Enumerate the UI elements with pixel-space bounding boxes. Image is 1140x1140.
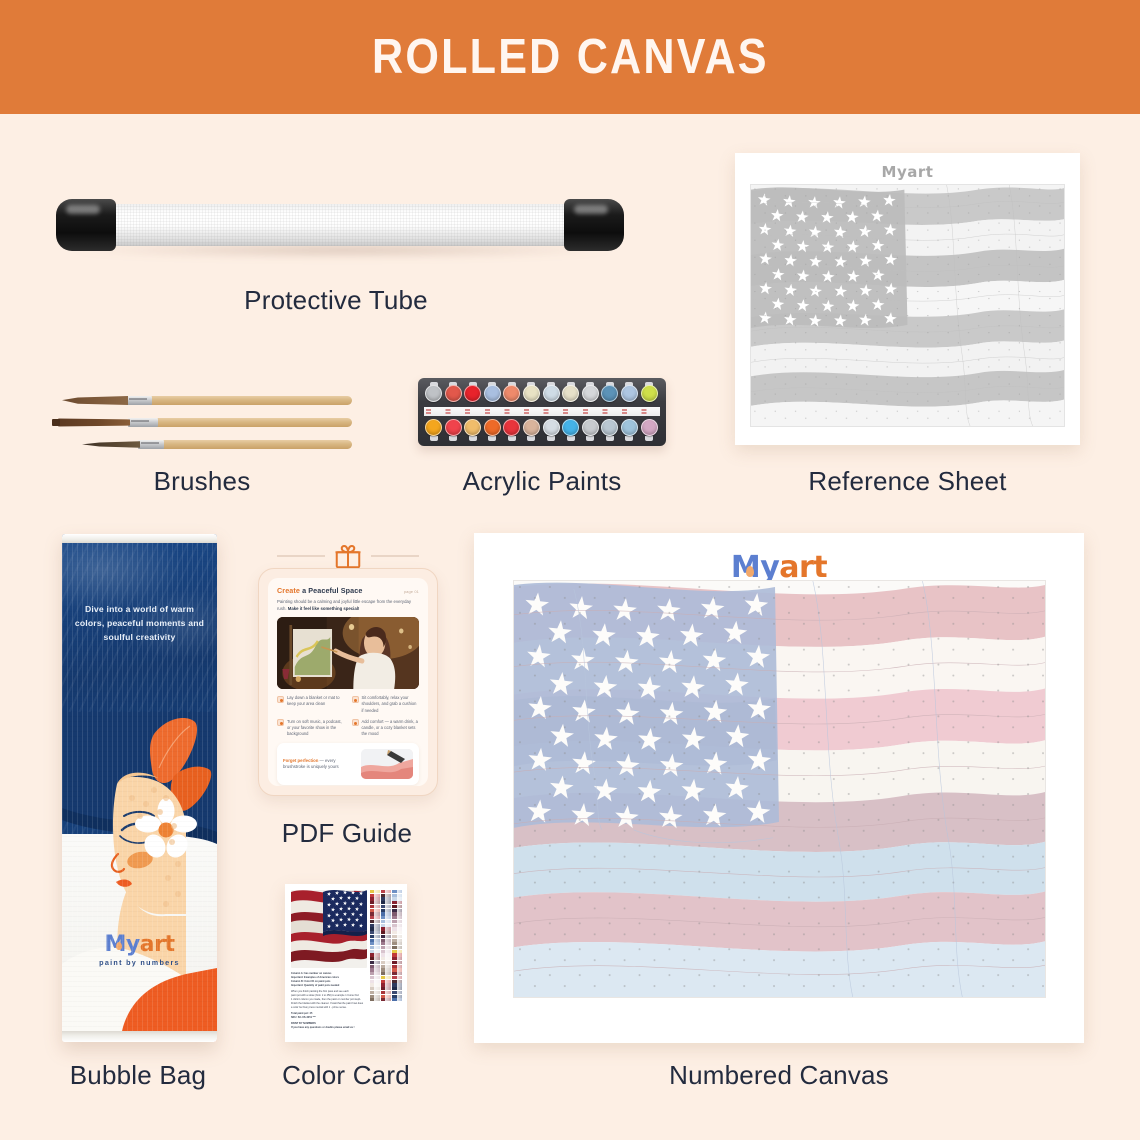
paint-pot bbox=[483, 416, 503, 441]
color-swatch bbox=[370, 965, 380, 968]
bag-tagline: Dive into a world of warm colors, peacef… bbox=[72, 602, 207, 645]
color-swatch bbox=[392, 901, 402, 904]
color-swatch bbox=[381, 931, 391, 934]
color-swatch bbox=[392, 957, 402, 960]
color-swatch bbox=[370, 939, 380, 942]
color-swatch bbox=[392, 931, 402, 934]
swatch-column bbox=[392, 890, 402, 1037]
color-swatch bbox=[392, 894, 402, 897]
logo-part-art: art bbox=[140, 932, 175, 957]
paint-pot bbox=[561, 416, 581, 441]
color-swatch bbox=[392, 946, 402, 949]
pdf-page-marker: page 01 bbox=[404, 589, 419, 594]
color-swatch bbox=[381, 968, 391, 971]
color-swatch bbox=[381, 920, 391, 923]
color-card-instructions: Column A: has number on canvasImportant:… bbox=[291, 972, 369, 1030]
brushes-image bbox=[52, 390, 352, 452]
color-swatch bbox=[370, 961, 380, 964]
color-swatch bbox=[392, 972, 402, 975]
color-swatch bbox=[370, 987, 380, 990]
numbered-canvas-image: Myart bbox=[474, 533, 1084, 1043]
color-swatch bbox=[381, 946, 391, 949]
pdf-tip-text: Add comfort — a warm drink, a candle, or… bbox=[362, 719, 420, 737]
flat-brush bbox=[52, 418, 352, 427]
palette-label-strip bbox=[424, 407, 660, 416]
tube-cap-left bbox=[56, 199, 116, 251]
pdf-title-accent: Create bbox=[277, 586, 300, 595]
bag-seam-top bbox=[62, 534, 217, 543]
color-swatch bbox=[392, 995, 402, 998]
gift-icon bbox=[333, 541, 363, 571]
callout-photo-painting-hand bbox=[361, 749, 413, 779]
music-icon bbox=[277, 719, 284, 726]
color-swatch bbox=[381, 976, 391, 979]
reference-sheet-logo: Myart bbox=[735, 163, 1080, 181]
label-reference-sheet: Reference Sheet bbox=[735, 466, 1080, 497]
label-brushes: Brushes bbox=[52, 466, 352, 497]
color-swatch bbox=[370, 916, 380, 919]
color-swatch bbox=[392, 983, 402, 986]
bubble-bag-image: Dive into a world of warm colors, peacef… bbox=[62, 534, 217, 1042]
candle-icon bbox=[352, 719, 359, 726]
label-color-card: Color Card bbox=[246, 1060, 446, 1091]
color-swatch bbox=[370, 991, 380, 994]
color-swatch bbox=[381, 957, 391, 960]
canvas-myart-logo: Myart bbox=[474, 553, 1084, 583]
color-swatch bbox=[392, 890, 402, 893]
paint-pot bbox=[620, 416, 640, 441]
color-swatch bbox=[381, 935, 391, 938]
label-protective-tube: Protective Tube bbox=[136, 285, 536, 316]
color-swatch bbox=[381, 961, 391, 964]
color-swatch bbox=[381, 980, 391, 983]
pdf-tip: Add comfort — a warm drink, a candle, or… bbox=[352, 719, 420, 737]
color-swatch bbox=[381, 905, 391, 908]
header-banner: ROLLED CANVAS bbox=[0, 0, 1140, 114]
pdf-title-rest: a Peaceful Space bbox=[300, 586, 362, 595]
color-swatch bbox=[370, 968, 380, 971]
color-swatch bbox=[392, 920, 402, 923]
paint-pot bbox=[424, 382, 444, 407]
color-swatch bbox=[392, 998, 402, 1001]
tube-body bbox=[100, 204, 592, 246]
color-swatch bbox=[392, 912, 402, 915]
pdf-intro-2: Make it feel like something special! bbox=[288, 606, 360, 611]
color-swatch bbox=[381, 942, 391, 945]
label-numbered-canvas: Numbered Canvas bbox=[474, 1060, 1084, 1091]
color-swatch bbox=[370, 957, 380, 960]
color-swatch bbox=[370, 890, 380, 893]
paint-pot bbox=[581, 382, 601, 407]
color-swatch bbox=[370, 901, 380, 904]
page-title: ROLLED CANVAS bbox=[372, 29, 769, 85]
acrylic-paints-image bbox=[418, 378, 666, 446]
pdf-photo-woman-painting bbox=[277, 617, 419, 689]
paint-pot bbox=[620, 382, 640, 407]
color-swatch bbox=[392, 905, 402, 908]
color-swatch bbox=[381, 972, 391, 975]
label-pdf-guide: PDF Guide bbox=[247, 818, 447, 849]
color-swatch bbox=[370, 897, 380, 900]
color-swatch bbox=[392, 976, 402, 979]
color-swatch bbox=[392, 924, 402, 927]
color-swatch bbox=[370, 953, 380, 956]
pdf-tips-grid: Lay down a blanket or mat to keep your a… bbox=[277, 695, 419, 737]
bag-seam-bottom bbox=[62, 1031, 217, 1042]
divider-right bbox=[371, 555, 419, 557]
color-card-swatch-columns bbox=[370, 890, 402, 1037]
color-swatch bbox=[392, 965, 402, 968]
paint-row-top bbox=[424, 382, 660, 407]
color-swatch bbox=[370, 980, 380, 983]
color-swatch bbox=[381, 950, 391, 953]
color-swatch bbox=[381, 916, 391, 919]
paint-pot bbox=[483, 382, 503, 407]
logo-part-my: My bbox=[105, 932, 140, 957]
pdf-heading: Create a Peaceful Space page 01 bbox=[277, 586, 419, 595]
swatch-column bbox=[381, 890, 391, 1037]
color-swatch bbox=[392, 991, 402, 994]
brush-tip bbox=[82, 440, 140, 449]
color-swatch bbox=[370, 894, 380, 897]
color-swatch bbox=[381, 890, 391, 893]
color-swatch bbox=[381, 927, 391, 930]
color-swatch bbox=[381, 998, 391, 1001]
color-swatch bbox=[392, 953, 402, 956]
pdf-tip-text: Lay down a blanket or mat to keep your a… bbox=[287, 695, 345, 713]
numbered-flag-art bbox=[513, 580, 1046, 998]
color-card-line: If you have any questions or doubts plea… bbox=[291, 1026, 369, 1030]
cushion-icon bbox=[352, 696, 359, 703]
color-swatch bbox=[370, 950, 380, 953]
color-swatch bbox=[392, 950, 402, 953]
color-swatch bbox=[381, 953, 391, 956]
color-swatch bbox=[381, 909, 391, 912]
color-swatch bbox=[392, 987, 402, 990]
color-swatch bbox=[370, 976, 380, 979]
color-swatch bbox=[392, 927, 402, 930]
color-swatch bbox=[370, 912, 380, 915]
paint-pot bbox=[444, 382, 464, 407]
paint-pot bbox=[502, 382, 522, 407]
color-swatch bbox=[370, 942, 380, 945]
color-swatch bbox=[370, 972, 380, 975]
pdf-callout: Forget perfection — every brushstroke is… bbox=[277, 743, 419, 785]
color-swatch bbox=[370, 946, 380, 949]
label-bubble-bag: Bubble Bag bbox=[38, 1060, 238, 1091]
color-swatch bbox=[370, 983, 380, 986]
color-swatch bbox=[381, 995, 391, 998]
paint-pot bbox=[463, 416, 483, 441]
color-swatch bbox=[370, 935, 380, 938]
color-swatch bbox=[370, 927, 380, 930]
paint-pot bbox=[522, 382, 542, 407]
color-swatch bbox=[392, 980, 402, 983]
color-swatch bbox=[370, 905, 380, 908]
paint-pot bbox=[424, 416, 444, 441]
divider-left bbox=[277, 555, 325, 557]
color-swatch bbox=[370, 909, 380, 912]
color-swatch bbox=[381, 901, 391, 904]
pdf-guide-image: Create a Peaceful Space page 01 Painting… bbox=[258, 568, 438, 796]
paint-pot bbox=[600, 416, 620, 441]
color-swatch bbox=[381, 924, 391, 927]
color-card-line: Finish the blanket with the cleaner. If … bbox=[291, 1002, 369, 1006]
paint-pot bbox=[522, 416, 542, 441]
color-swatch bbox=[381, 939, 391, 942]
brush-tip bbox=[62, 396, 128, 405]
color-card-flag-photo bbox=[291, 890, 367, 968]
pdf-tip-text: Sit comfortably, relax your shoulders, a… bbox=[362, 695, 420, 713]
color-swatch bbox=[381, 912, 391, 915]
color-card-image: Column A: has number on canvasImportant:… bbox=[285, 884, 407, 1042]
paint-pot bbox=[542, 416, 562, 441]
pdf-tip: Sit comfortably, relax your shoulders, a… bbox=[352, 695, 420, 713]
color-swatch bbox=[381, 987, 391, 990]
paint-pot bbox=[600, 382, 620, 407]
color-swatch bbox=[392, 909, 402, 912]
paint-pot bbox=[502, 416, 522, 441]
protective-tube-image bbox=[56, 198, 626, 258]
color-swatch bbox=[370, 920, 380, 923]
product-infographic: ROLLED CANVAS Protective Tube Brushes bbox=[0, 0, 1140, 1140]
paint-pot bbox=[581, 416, 601, 441]
paint-pot bbox=[640, 382, 660, 407]
reference-sheet-image: Myart bbox=[735, 153, 1080, 445]
pdf-tip: Lay down a blanket or mat to keep your a… bbox=[277, 695, 345, 713]
paint-pot bbox=[542, 382, 562, 407]
color-swatch bbox=[392, 916, 402, 919]
color-swatch bbox=[392, 935, 402, 938]
pdf-tip-text: Turn on soft music, a podcast, or your f… bbox=[287, 719, 345, 737]
paint-pot bbox=[444, 416, 464, 441]
color-swatch bbox=[392, 897, 402, 900]
color-swatch bbox=[392, 968, 402, 971]
round-fine-brush bbox=[62, 396, 352, 405]
color-swatch bbox=[381, 894, 391, 897]
liner-brush bbox=[82, 440, 352, 449]
pdf-tip: Turn on soft music, a podcast, or your f… bbox=[277, 719, 345, 737]
color-swatch bbox=[370, 931, 380, 934]
color-swatch bbox=[392, 942, 402, 945]
brush-tip bbox=[58, 418, 130, 427]
bag-myart-logo: Myart bbox=[62, 933, 217, 956]
color-swatch bbox=[381, 897, 391, 900]
pdf-intro: Painting should be a calming and joyful … bbox=[277, 599, 419, 612]
paint-pot bbox=[463, 382, 483, 407]
swatch-column bbox=[370, 890, 380, 1037]
callout-accent: Forget perfection bbox=[283, 758, 318, 763]
bag-logo-tagline: paint by numbers bbox=[62, 958, 217, 967]
blanket-icon bbox=[277, 696, 284, 703]
color-swatch bbox=[370, 998, 380, 1001]
paint-row-bottom bbox=[424, 416, 660, 441]
color-swatch bbox=[370, 924, 380, 927]
reference-flag-art bbox=[750, 184, 1065, 427]
label-acrylic-paints: Acrylic Paints bbox=[392, 466, 692, 497]
color-swatch bbox=[392, 961, 402, 964]
color-swatch bbox=[381, 965, 391, 968]
color-swatch bbox=[381, 991, 391, 994]
color-swatch bbox=[381, 983, 391, 986]
tube-cap-right bbox=[564, 199, 624, 251]
color-swatch bbox=[392, 939, 402, 942]
paint-pot bbox=[640, 416, 660, 441]
color-swatch bbox=[370, 995, 380, 998]
paint-pot bbox=[561, 382, 581, 407]
